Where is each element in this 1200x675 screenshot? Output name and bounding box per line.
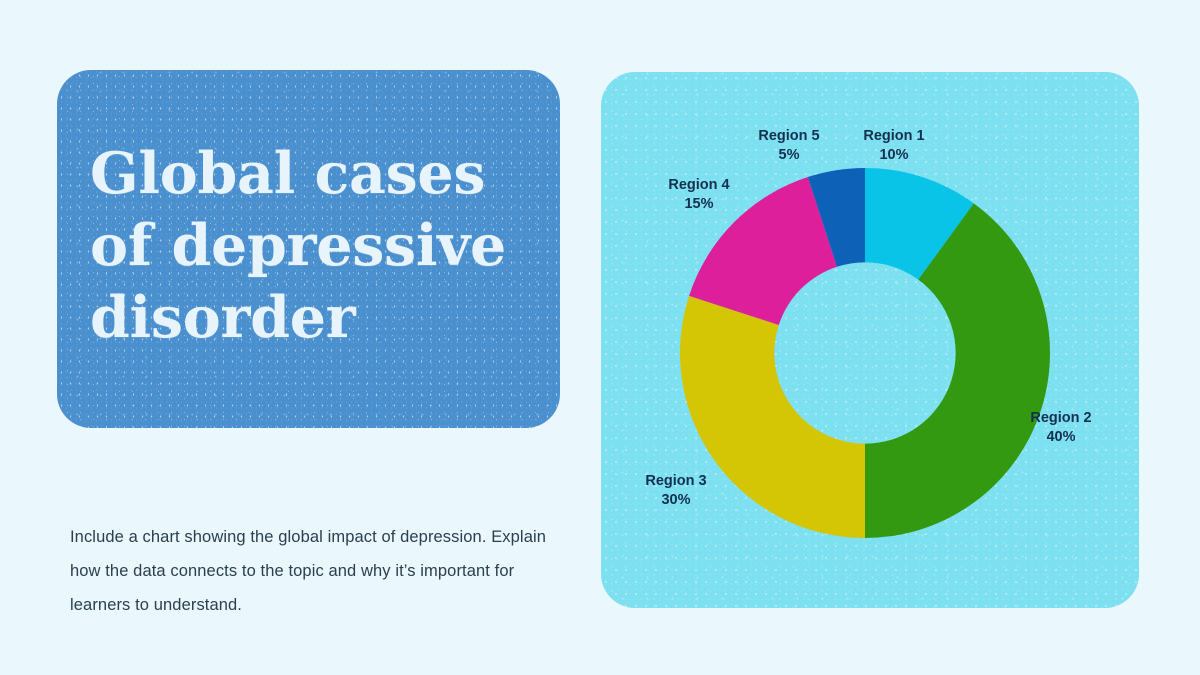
slide-canvas: Global cases of depressive disorder Incl… <box>0 0 1200 675</box>
slice-label-value: 5% <box>734 146 844 165</box>
chart-card: Region 1 10% Region 2 40% Region 3 30% R… <box>601 72 1139 608</box>
slice-label-region-3: Region 3 30% <box>616 472 736 511</box>
slice-label-value: 40% <box>1001 428 1121 447</box>
slice-label-name: Region 1 <box>863 128 924 144</box>
slice-label-region-2: Region 2 40% <box>1001 409 1121 448</box>
slice-label-name: Region 4 <box>668 177 729 193</box>
title-card: Global cases of depressive disorder <box>57 70 560 428</box>
slice-label-value: 15% <box>644 195 754 214</box>
slice-label-name: Region 2 <box>1030 410 1091 426</box>
slice-label-value: 10% <box>839 146 949 165</box>
body-paragraph: Include a chart showing the global impac… <box>70 521 570 623</box>
slice-label-region-5: Region 5 5% <box>734 127 844 166</box>
slice-label-region-4: Region 4 15% <box>644 176 754 215</box>
slice-label-value: 30% <box>616 491 736 510</box>
slice-label-region-1: Region 1 10% <box>839 127 949 166</box>
slice-label-name: Region 5 <box>758 128 819 144</box>
page-title: Global cases of depressive disorder <box>57 138 560 359</box>
slice-label-name: Region 3 <box>645 473 706 489</box>
